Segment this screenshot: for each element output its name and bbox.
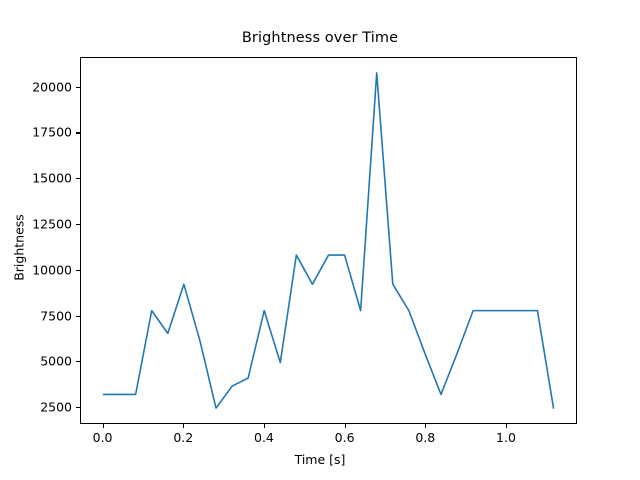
x-axis-tick-label: 0.4 xyxy=(254,430,274,445)
x-axis-tick-mark xyxy=(345,424,346,428)
y-axis-tick-mark xyxy=(76,178,80,179)
x-axis-tick-label: 0.6 xyxy=(335,430,355,445)
y-axis-tick-mark xyxy=(76,361,80,362)
x-axis-tick-mark xyxy=(264,424,265,428)
x-axis-tick-mark xyxy=(425,424,426,428)
y-axis-tick-label: 17500 xyxy=(32,125,72,140)
x-axis-label: Time [s] xyxy=(0,452,640,467)
y-axis-tick-mark xyxy=(76,270,80,271)
x-axis-tick-label: 1.0 xyxy=(496,430,516,445)
x-axis-tick-mark xyxy=(183,424,184,428)
x-axis-tick-label: 0.2 xyxy=(173,430,193,445)
matplotlib-figure: Brightness over Time 2500500075001000012… xyxy=(0,0,640,480)
y-axis-tick-label: 2500 xyxy=(40,400,72,415)
y-axis-tick-mark xyxy=(76,87,80,88)
y-axis-tick-mark xyxy=(76,132,80,133)
y-axis-tick-label: 5000 xyxy=(40,354,72,369)
y-axis-tick-label: 15000 xyxy=(32,171,72,186)
x-axis-tick-label: 0.8 xyxy=(415,430,435,445)
y-axis-tick-label: 10000 xyxy=(32,262,72,277)
line-series xyxy=(81,58,576,423)
page-title: Brightness over Time xyxy=(0,30,640,46)
y-axis-tick-mark xyxy=(76,316,80,317)
y-axis-label: Brightness xyxy=(12,188,27,308)
y-axis-tick-label: 20000 xyxy=(32,79,72,94)
plot-area xyxy=(80,57,577,424)
x-axis-tick-label: 0.0 xyxy=(93,430,113,445)
x-axis-tick-mark xyxy=(506,424,507,428)
y-axis-tick-mark xyxy=(76,224,80,225)
x-axis-tick-mark xyxy=(103,424,104,428)
y-axis-tick-label: 7500 xyxy=(40,308,72,323)
y-axis-tick-label: 12500 xyxy=(32,217,72,232)
y-axis-tick-mark xyxy=(76,407,80,408)
